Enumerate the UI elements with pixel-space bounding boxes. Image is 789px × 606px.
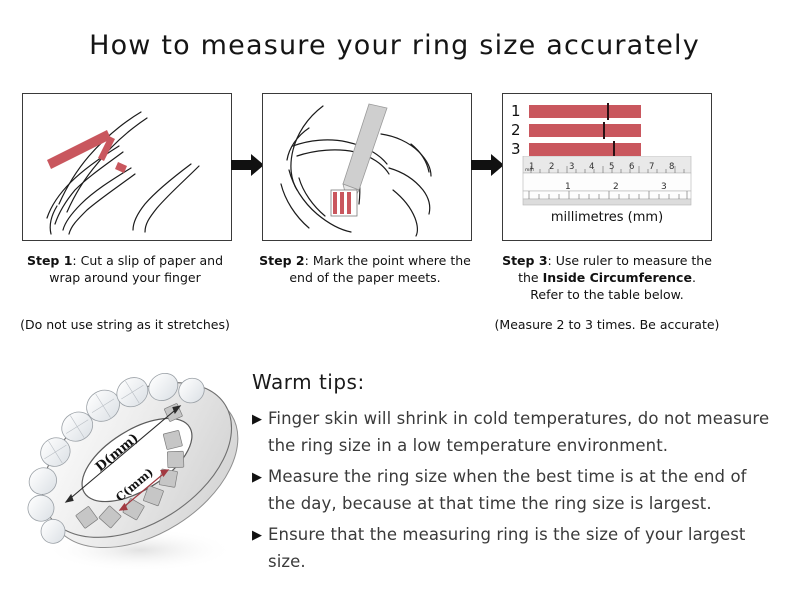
hand-with-paper-slip-illustration (23, 94, 231, 240)
svg-text:2: 2 (549, 162, 554, 172)
svg-text:4: 4 (589, 162, 594, 172)
list-item: ▶ Finger skin will shrink in cold temper… (252, 405, 772, 459)
illustration-panel-step-1 (22, 93, 232, 241)
arrow-panel1-to-panel2 (231, 152, 265, 178)
illustration-panel-step-3: 1 2 3 123 456 78 mm 123 millimetres (mm) (502, 93, 712, 241)
ruler-illustration: 123 456 78 mm 123 (503, 156, 711, 212)
strip-number-2: 2 (511, 121, 521, 139)
paper-strip-2 (529, 124, 641, 137)
step-1-line2: wrap around your finger (10, 269, 240, 286)
triangle-bullet-icon: ▶ (252, 405, 268, 432)
step-1-colon: : (72, 253, 76, 268)
step-2-label: Step 2 (259, 253, 304, 268)
note-measure-times: (Measure 2 to 3 times. Be accurate) (492, 317, 722, 332)
svg-text:6: 6 (629, 162, 634, 172)
step-3-line2-post: . (692, 270, 696, 285)
paper-strip-3 (529, 143, 641, 156)
step-2-line1: Mark the point where the (313, 253, 471, 268)
strip-number-1: 1 (511, 102, 521, 120)
illustration-panel-step-2 (262, 93, 472, 241)
measure-mark-1 (607, 103, 609, 120)
step-1-line1: Cut a slip of paper and (81, 253, 223, 268)
step-1-label: Step 1 (27, 253, 72, 268)
svg-text:1: 1 (565, 182, 571, 192)
svg-text:3: 3 (661, 182, 667, 192)
step-2-colon: : (305, 253, 309, 268)
triangle-bullet-icon: ▶ (252, 463, 268, 490)
svg-text:mm: mm (525, 168, 534, 173)
pen-marking-paper-illustration (263, 94, 471, 240)
step-2-line2: end of the paper meets. (250, 269, 480, 286)
step-3-line1: Use ruler to measure the (556, 253, 712, 268)
svg-text:2: 2 (613, 182, 619, 192)
warm-tips-heading: Warm tips: (252, 370, 365, 394)
step-3-caption: Step 3: Use ruler to measure the the Ins… (492, 252, 722, 303)
tip-text-2: Measure the ring size when the best time… (268, 463, 772, 517)
step-3-line2-pre: the (518, 270, 543, 285)
step-3-line3: Refer to the table below. (492, 286, 722, 303)
step-3-colon: : (548, 253, 552, 268)
svg-text:7: 7 (649, 162, 654, 172)
measure-mark-2 (603, 122, 605, 139)
page-title: How to measure your ring size accurately (0, 30, 789, 61)
tip-text-3: Ensure that the measuring ring is the si… (268, 521, 772, 575)
ring-diagram: D(mm) C(mm) (20, 350, 255, 585)
step-3-label: Step 3 (502, 253, 547, 268)
tip-text-1: Finger skin will shrink in cold temperat… (268, 405, 772, 459)
list-item: ▶ Ensure that the measuring ring is the … (252, 521, 772, 575)
unit-caption: millimetres (mm) (503, 210, 711, 225)
svg-text:8: 8 (669, 162, 674, 172)
note-do-not-use-string: (Do not use string as it stretches) (10, 317, 240, 332)
triangle-bullet-icon: ▶ (252, 521, 268, 548)
arrow-panel2-to-panel3 (471, 152, 505, 178)
warm-tips-list: ▶ Finger skin will shrink in cold temper… (252, 405, 772, 579)
inside-circumference-emphasis: Inside Circumference (543, 270, 692, 285)
list-item: ▶ Measure the ring size when the best ti… (252, 463, 772, 517)
ring-with-measurement-labels: D(mm) C(mm) (20, 350, 255, 585)
step-2-caption: Step 2: Mark the point where the end of … (250, 252, 480, 286)
step-1-caption: Step 1: Cut a slip of paper and wrap aro… (10, 252, 240, 286)
paper-strip-1 (529, 105, 641, 118)
svg-text:5: 5 (609, 162, 614, 172)
svg-text:3: 3 (569, 162, 574, 172)
